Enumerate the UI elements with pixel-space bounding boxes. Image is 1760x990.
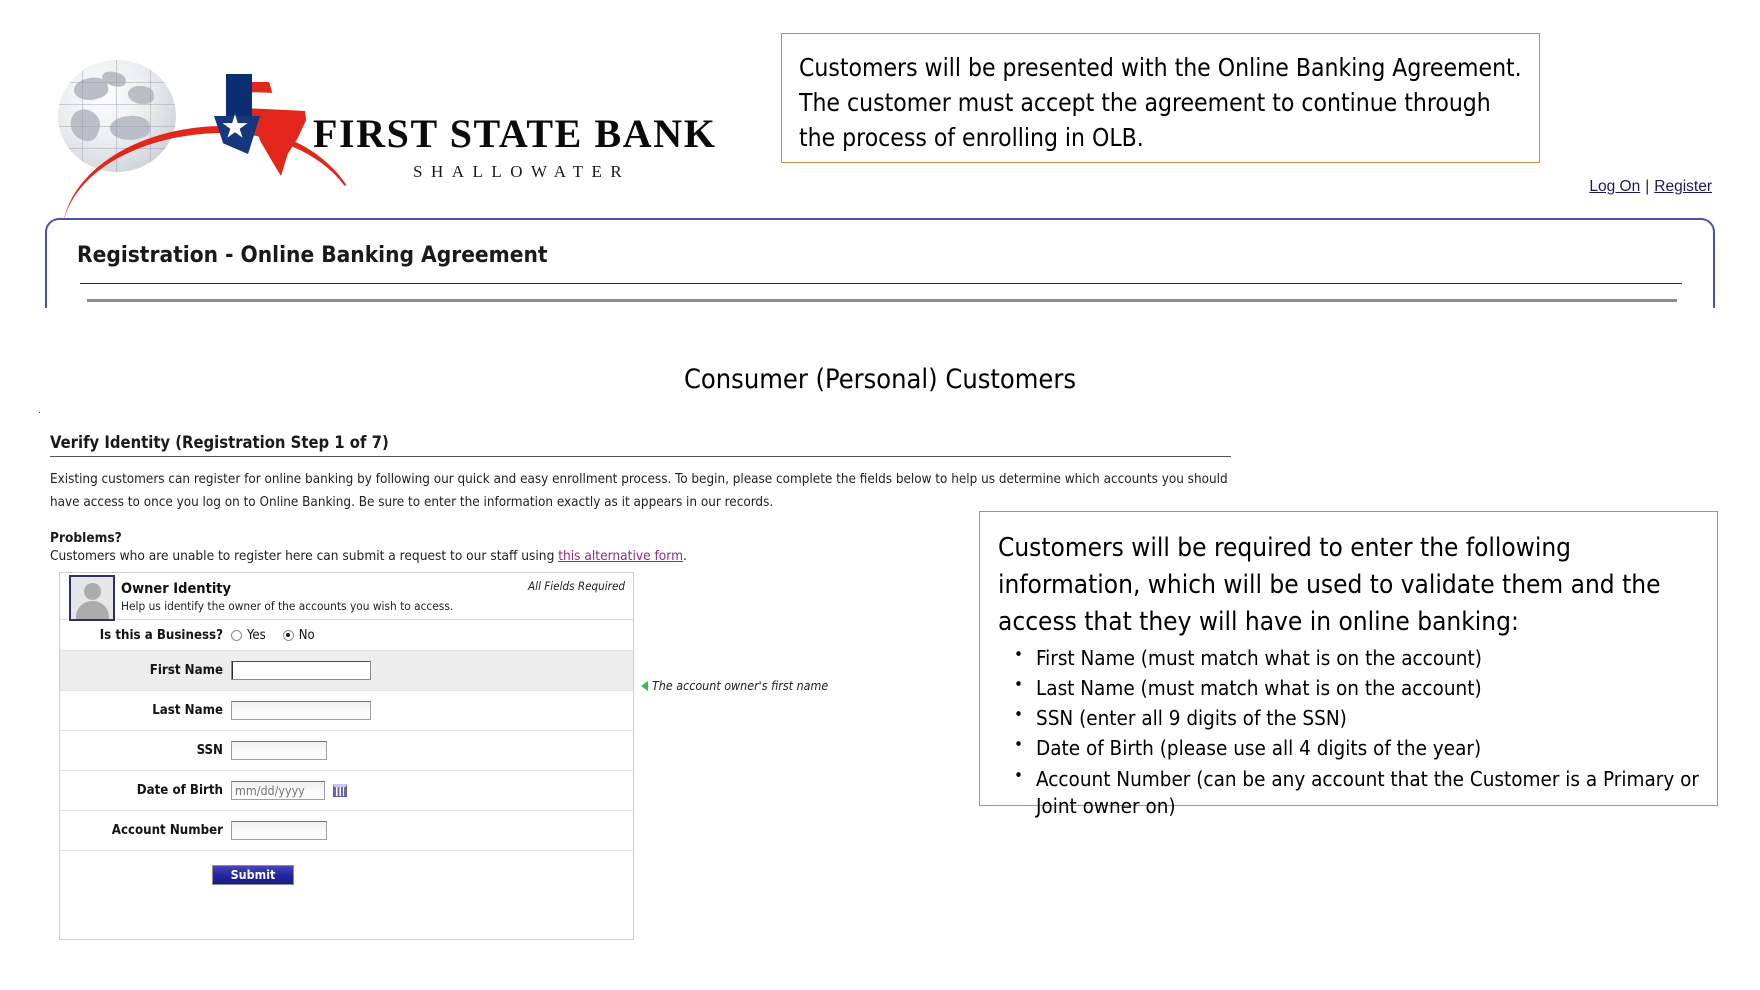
list-item: First Name (must match what is on the ac…: [998, 645, 1701, 672]
ssn-row: SSN: [60, 731, 633, 771]
annotation-callout-bottom: Customers will be required to enter the …: [979, 511, 1718, 806]
page-title: Registration - Online Banking Agreement: [77, 242, 548, 268]
problems-text-prefix: Customers who are unable to register her…: [50, 548, 558, 564]
stray-mark: .: [38, 404, 41, 416]
alternative-form-link[interactable]: this alternative form: [558, 548, 683, 564]
annotation-callout-top: Customers will be presented with the Onl…: [781, 33, 1540, 163]
account-number-label: Account Number: [60, 823, 231, 838]
date-of-birth-input[interactable]: [231, 781, 325, 800]
ssn-input[interactable]: [231, 741, 327, 760]
account-number-row: Account Number: [60, 811, 633, 851]
annotation-lead-text: Customers will be required to enter the …: [998, 530, 1701, 641]
business-question-label: Is this a Business?: [60, 628, 231, 643]
agreement-box-top-edge: [87, 299, 1677, 302]
auth-links: Log On|Register: [1589, 178, 1712, 196]
bank-tagline: SHALLOWATER: [413, 162, 630, 182]
verify-identity-divider: [50, 456, 1231, 457]
radio-no-label: No: [299, 628, 315, 643]
date-of-birth-row: Date of Birth: [60, 771, 633, 811]
list-item: SSN (enter all 9 digits of the SSN): [998, 705, 1701, 732]
radio-yes[interactable]: [231, 630, 242, 641]
radio-yes-label: Yes: [247, 628, 266, 643]
business-question-row: Is this a Business? Yes No: [60, 620, 633, 651]
field-hint-text: The account owner's first name: [652, 678, 828, 693]
business-radio-group[interactable]: Yes No: [231, 628, 327, 643]
all-fields-required-note: All Fields Required: [528, 579, 625, 593]
log-on-link[interactable]: Log On: [1589, 178, 1640, 195]
auth-separator: |: [1645, 178, 1649, 195]
left-arrow-icon: [641, 681, 648, 691]
submit-row: Submit: [60, 851, 633, 898]
list-item: Last Name (must match what is on the acc…: [998, 675, 1701, 702]
problems-heading: Problems?: [50, 530, 122, 546]
registration-panel: Registration - Online Banking Agreement: [45, 218, 1715, 308]
person-avatar-icon: [69, 575, 115, 621]
texas-flag-icon: [178, 74, 278, 174]
verify-identity-title: Verify Identity (Registration Step 1 of …: [50, 433, 389, 452]
owner-identity-title: Owner Identity: [121, 581, 231, 597]
first-name-input[interactable]: [231, 661, 371, 680]
ssn-label: SSN: [60, 743, 231, 758]
owner-identity-header: Owner Identity Help us identify the owne…: [60, 573, 633, 620]
owner-identity-form: Owner Identity Help us identify the owne…: [59, 572, 634, 940]
register-link[interactable]: Register: [1654, 178, 1712, 195]
submit-button[interactable]: Submit: [212, 865, 294, 885]
problems-text-suffix: .: [683, 548, 687, 564]
last-name-row: Last Name: [60, 691, 633, 731]
owner-identity-subtitle: Help us identify the owner of the accoun…: [121, 599, 453, 613]
list-item: Date of Birth (please use all 4 digits o…: [998, 735, 1701, 762]
last-name-label: Last Name: [60, 703, 231, 718]
section-heading: Consumer (Personal) Customers: [0, 364, 1760, 395]
bank-logo: FIRST STATE BANK SHALLOWATER: [58, 52, 678, 172]
calendar-icon[interactable]: [333, 784, 347, 797]
first-name-row: First Name: [60, 651, 633, 691]
verify-identity-description: Existing customers can register for onli…: [50, 468, 1230, 514]
last-name-input[interactable]: [231, 701, 371, 720]
list-item: Account Number (can be any account that …: [998, 766, 1701, 821]
first-name-label: First Name: [60, 663, 231, 678]
problems-description: Customers who are unable to register her…: [50, 548, 770, 564]
annotation-bullet-list: First Name (must match what is on the ac…: [998, 645, 1701, 821]
account-number-input[interactable]: [231, 821, 327, 840]
date-of-birth-label: Date of Birth: [60, 783, 231, 798]
first-name-field-hint: The account owner's first name: [641, 678, 828, 693]
radio-no[interactable]: [283, 630, 294, 641]
bank-name: FIRST STATE BANK: [313, 110, 717, 157]
title-divider: [80, 283, 1682, 284]
